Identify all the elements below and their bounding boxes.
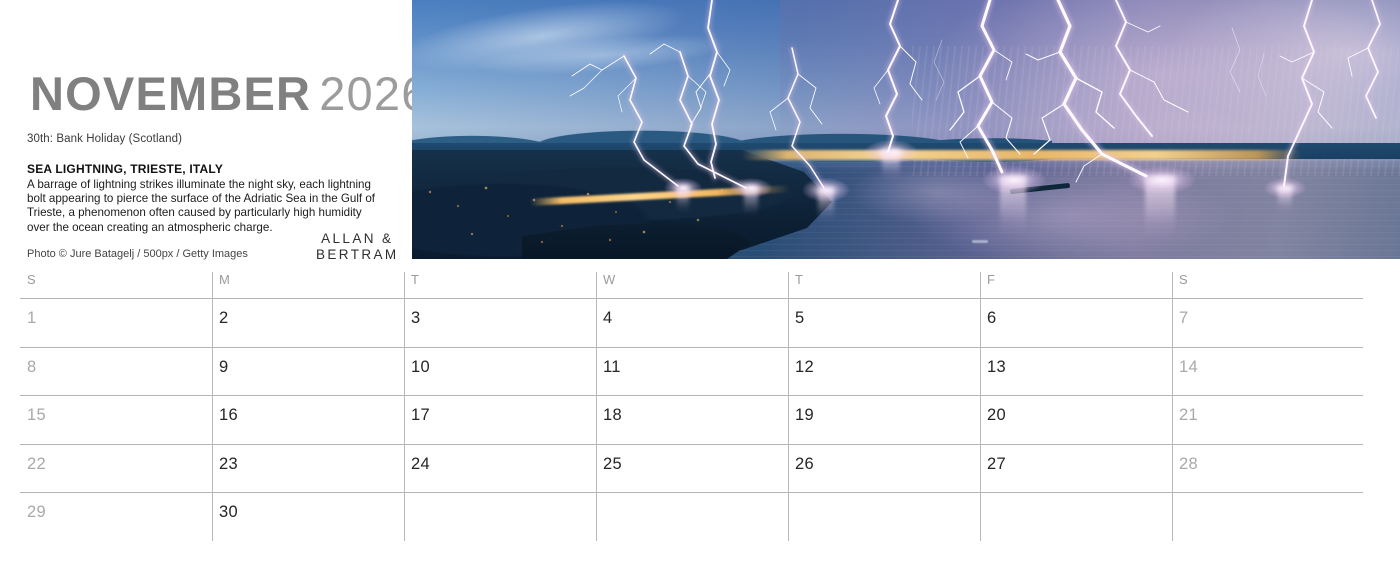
day-number: 17 xyxy=(411,406,430,424)
day-number: 14 xyxy=(1179,358,1198,376)
calendar-week-row: 15161718192021 xyxy=(20,395,1363,444)
grid-vertical-rule xyxy=(404,272,405,298)
day-number: 25 xyxy=(603,455,622,473)
calendar-week-row: 22232425262728 xyxy=(20,444,1363,493)
calendar-day-14[interactable]: 14 xyxy=(1172,348,1364,396)
weekday-header-row: SMTWTFS xyxy=(20,272,1363,298)
weekday-label: T xyxy=(404,272,596,287)
grid-vertical-rule xyxy=(596,445,597,493)
day-number: 7 xyxy=(1179,309,1188,327)
grid-vertical-rule xyxy=(404,396,405,444)
grid-vertical-rule xyxy=(1172,272,1173,298)
weekday-header-0: S xyxy=(20,272,212,287)
brand-logo-line-1: ALLAN & xyxy=(316,231,399,247)
calendar-day-7[interactable]: 7 xyxy=(1172,299,1364,347)
grid-vertical-rule xyxy=(980,299,981,347)
day-number: 13 xyxy=(987,358,1006,376)
grid-vertical-rule xyxy=(788,348,789,396)
day-number: 10 xyxy=(411,358,430,376)
weekday-label: T xyxy=(788,272,980,287)
grid-vertical-rule xyxy=(1172,510,1173,538)
day-number: 24 xyxy=(411,455,430,473)
brand-logo: ALLAN & BERTRAM xyxy=(316,231,399,262)
weekday-header-1: M xyxy=(212,272,404,287)
day-number: 16 xyxy=(219,406,238,424)
calendar-day-6[interactable]: 6 xyxy=(980,299,1172,347)
calendar-weeks: 1234567891011121314151617181920212223242… xyxy=(20,298,1363,541)
photo-credit: Photo © Jure Batagelj / 500px / Getty Im… xyxy=(27,248,248,260)
weekday-header-6: S xyxy=(1172,272,1364,287)
grid-vertical-rule xyxy=(788,445,789,493)
day-number: 9 xyxy=(219,358,228,376)
day-number: 2 xyxy=(219,309,228,327)
calendar-day-17[interactable]: 17 xyxy=(404,396,596,444)
calendar-day-10[interactable]: 10 xyxy=(404,348,596,396)
grid-vertical-rule xyxy=(212,348,213,396)
grid-vertical-rule xyxy=(1172,348,1173,396)
calendar-day-23[interactable]: 23 xyxy=(212,445,404,493)
grid-vertical-rule xyxy=(980,445,981,493)
grid-vertical-rule xyxy=(596,272,597,298)
day-number: 4 xyxy=(603,309,612,327)
day-number: 11 xyxy=(603,358,621,376)
day-number: 18 xyxy=(603,406,622,424)
grid-vertical-rule xyxy=(404,299,405,347)
calendar-day-28[interactable]: 28 xyxy=(1172,445,1364,493)
calendar-day-20[interactable]: 20 xyxy=(980,396,1172,444)
weekday-label: M xyxy=(212,272,404,287)
weekday-label: S xyxy=(1172,272,1364,287)
grid-vertical-rule xyxy=(212,445,213,493)
day-number: 28 xyxy=(1179,455,1198,473)
day-number: 23 xyxy=(219,455,238,473)
grid-vertical-rule xyxy=(1172,299,1173,347)
calendar-day-21[interactable]: 21 xyxy=(1172,396,1364,444)
weekday-header-2: T xyxy=(404,272,596,287)
calendar-day-11[interactable]: 11 xyxy=(596,348,788,396)
calendar-day-15[interactable]: 15 xyxy=(20,396,212,444)
photo-description: A barrage of lightning strikes illuminat… xyxy=(27,178,379,235)
grid-vertical-rule xyxy=(596,348,597,396)
grid-vertical-rule xyxy=(404,445,405,493)
calendar-grid: SMTWTFS 12345678910111213141516171819202… xyxy=(20,272,1363,541)
calendar-day-25[interactable]: 25 xyxy=(596,445,788,493)
day-number: 27 xyxy=(987,455,1006,473)
day-number: 22 xyxy=(27,455,46,473)
calendar-day-26[interactable]: 26 xyxy=(788,445,980,493)
grid-vertical-rule xyxy=(404,510,405,538)
grid-vertical-rule xyxy=(404,348,405,396)
calendar-day-16[interactable]: 16 xyxy=(212,396,404,444)
calendar-day-27[interactable]: 27 xyxy=(980,445,1172,493)
calendar-day-1[interactable]: 1 xyxy=(20,299,212,347)
grid-vertical-rule xyxy=(980,348,981,396)
grid-vertical-rule xyxy=(212,299,213,347)
day-number: 19 xyxy=(795,406,814,424)
weekday-header-4: T xyxy=(788,272,980,287)
grid-vertical-rule xyxy=(1172,396,1173,444)
day-number: 15 xyxy=(27,406,46,424)
calendar-day-8[interactable]: 8 xyxy=(20,348,212,396)
grid-vertical-rule xyxy=(596,396,597,444)
weekday-label: S xyxy=(20,272,212,287)
calendar-day-19[interactable]: 19 xyxy=(788,396,980,444)
day-number: 3 xyxy=(411,309,420,327)
day-number: 26 xyxy=(795,455,814,473)
holiday-note: 30th: Bank Holiday (Scotland) xyxy=(27,133,182,145)
brand-logo-line-2: BERTRAM xyxy=(316,247,399,263)
weekday-label: W xyxy=(596,272,788,287)
grid-vertical-rule xyxy=(1172,445,1173,493)
grid-vertical-rule xyxy=(596,299,597,347)
calendar-day-18[interactable]: 18 xyxy=(596,396,788,444)
grid-vertical-rule xyxy=(980,510,981,538)
grid-vertical-rule xyxy=(788,299,789,347)
day-number: 1 xyxy=(27,309,36,327)
grid-vertical-rule xyxy=(980,396,981,444)
day-number: 12 xyxy=(795,358,814,376)
grid-vertical-rule xyxy=(980,272,981,298)
page-title: NOVEMBER2026 xyxy=(30,70,429,117)
day-number: 6 xyxy=(987,309,996,327)
lightning-bolts xyxy=(412,0,1400,259)
calendar-week-row: 1234567 xyxy=(20,298,1363,347)
weekday-header-3: W xyxy=(596,272,788,287)
calendar-day-22[interactable]: 22 xyxy=(20,445,212,493)
grid-vertical-rule xyxy=(212,272,213,298)
grid-vertical-rule xyxy=(212,510,213,538)
day-number: 20 xyxy=(987,406,1006,424)
calendar-day-9[interactable]: 9 xyxy=(212,348,404,396)
grid-vertical-rule xyxy=(788,510,789,538)
calendar-day-12[interactable]: 12 xyxy=(788,348,980,396)
calendar-bottom-rules xyxy=(20,510,1363,538)
grid-vertical-rule xyxy=(596,510,597,538)
sea-lightning-trieste-photo xyxy=(412,0,1400,259)
calendar-day-3[interactable]: 3 xyxy=(404,299,596,347)
calendar-day-24[interactable]: 24 xyxy=(404,445,596,493)
weekday-label: F xyxy=(980,272,1172,287)
grid-vertical-rule xyxy=(788,396,789,444)
calendar-day-5[interactable]: 5 xyxy=(788,299,980,347)
grid-vertical-rule xyxy=(212,396,213,444)
calendar-week-row: 891011121314 xyxy=(20,347,1363,396)
calendar-day-2[interactable]: 2 xyxy=(212,299,404,347)
grid-vertical-rule xyxy=(788,272,789,298)
day-number: 8 xyxy=(27,358,36,376)
day-number: 5 xyxy=(795,309,804,327)
photo-title: SEA LIGHTNING, TRIESTE, ITALY xyxy=(27,162,223,176)
weekday-header-5: F xyxy=(980,272,1172,287)
calendar-day-13[interactable]: 13 xyxy=(980,348,1172,396)
month-info-panel: NOVEMBER2026 30th: Bank Holiday (Scotlan… xyxy=(0,0,412,265)
month-name: NOVEMBER xyxy=(30,67,311,120)
calendar-day-4[interactable]: 4 xyxy=(596,299,788,347)
day-number: 21 xyxy=(1179,406,1198,424)
